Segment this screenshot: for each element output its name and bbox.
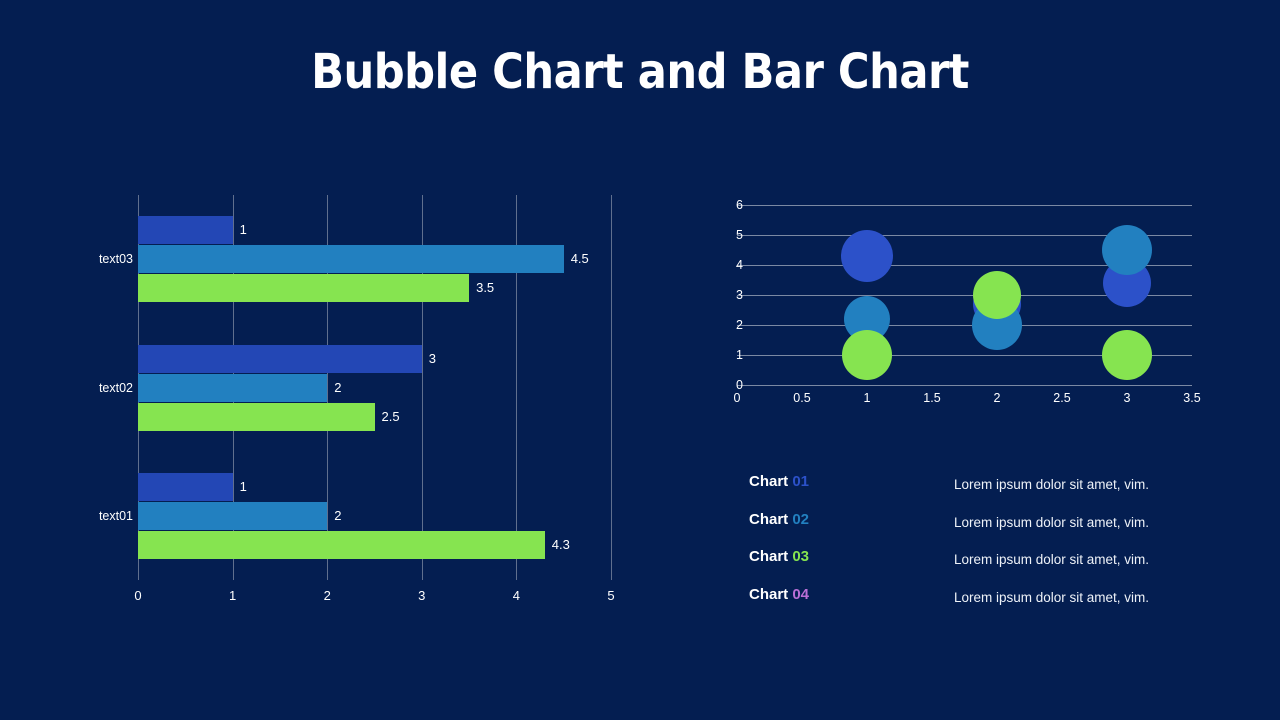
- bubble-y-tick-label: 3: [713, 288, 743, 302]
- bubble-point: [1102, 330, 1152, 380]
- bar-x-tick-label: 0: [134, 588, 141, 603]
- legend-label-text: Chart: [749, 586, 792, 603]
- bar-segment: [138, 345, 422, 373]
- bar-segment: [138, 245, 564, 273]
- legend-label-number: 02: [792, 511, 809, 528]
- legend-row: Chart 01Lorem ipsum dolor sit amet, vim.: [749, 470, 1189, 508]
- bar-chart: 012345text01124.3text02322.5text0314.53.…: [85, 195, 630, 615]
- bubble-x-tick-label: 3: [1124, 391, 1131, 405]
- bubble-y-tick-label: 6: [713, 198, 743, 212]
- bar-value-label: 3: [422, 345, 436, 373]
- bar-x-tick-label: 1: [229, 588, 236, 603]
- bubble-gridline: [737, 385, 1192, 386]
- bubble-point: [973, 271, 1021, 319]
- bubble-x-tick-label: 0.5: [793, 391, 810, 405]
- bar-segment: [138, 374, 327, 402]
- bubble-x-tick-label: 1: [864, 391, 871, 405]
- bubble-y-tick-label: 5: [713, 228, 743, 242]
- legend-label-number: 04: [792, 586, 809, 603]
- legend-description: Lorem ipsum dolor sit amet, vim.: [954, 552, 1149, 567]
- bar-segment: [138, 502, 327, 530]
- bar-segment: [138, 216, 233, 244]
- bar-value-label: 2.5: [375, 403, 400, 431]
- bar-x-tick-label: 3: [418, 588, 425, 603]
- bar-segment: [138, 531, 545, 559]
- legend-label-number: 01: [792, 473, 809, 490]
- bubble-x-tick-label: 1.5: [923, 391, 940, 405]
- bar-value-label: 1: [233, 473, 247, 501]
- bubble-x-tick-label: 0: [734, 391, 741, 405]
- bar-category-label: text02: [85, 381, 133, 395]
- slide-canvas: Bubble Chart and Bar Chart 012345text011…: [0, 0, 1280, 720]
- bar-value-label: 3.5: [469, 274, 494, 302]
- bar-segment: [138, 473, 233, 501]
- bar-category-label: text03: [85, 252, 133, 266]
- bubble-gridline: [737, 325, 1192, 326]
- legend-label-number: 03: [792, 548, 809, 565]
- bubble-point: [841, 230, 893, 282]
- bar-x-tick-label: 5: [607, 588, 614, 603]
- bar-segment: [138, 274, 469, 302]
- legend-row: Chart 03Lorem ipsum dolor sit amet, vim.: [749, 545, 1189, 583]
- page-title: Bubble Chart and Bar Chart: [0, 44, 1280, 100]
- chart-legend: Chart 01Lorem ipsum dolor sit amet, vim.…: [749, 470, 1189, 620]
- bar-value-label: 4.5: [564, 245, 589, 273]
- bubble-x-tick-label: 3.5: [1183, 391, 1200, 405]
- legend-label-text: Chart: [749, 511, 792, 528]
- legend-label: Chart 01: [749, 473, 809, 490]
- bubble-chart-plot-area: [737, 205, 1192, 385]
- bubble-gridline: [737, 205, 1192, 206]
- legend-label: Chart 04: [749, 586, 809, 603]
- bar-value-label: 2: [327, 502, 341, 530]
- legend-description: Lorem ipsum dolor sit amet, vim.: [954, 590, 1149, 605]
- legend-label-text: Chart: [749, 548, 792, 565]
- bubble-x-tick-label: 2: [994, 391, 1001, 405]
- legend-row: Chart 02Lorem ipsum dolor sit amet, vim.: [749, 508, 1189, 546]
- legend-label-text: Chart: [749, 473, 792, 490]
- bar-category-label: text01: [85, 509, 133, 523]
- bubble-y-tick-label: 2: [713, 318, 743, 332]
- legend-label: Chart 02: [749, 511, 809, 528]
- bubble-point: [1102, 225, 1152, 275]
- legend-label: Chart 03: [749, 548, 809, 565]
- bar-chart-plot-area: [138, 195, 611, 580]
- bubble-y-tick-label: 0: [713, 378, 743, 392]
- bar-x-tick-label: 4: [513, 588, 520, 603]
- bar-gridline: [611, 195, 612, 580]
- legend-row: Chart 04Lorem ipsum dolor sit amet, vim.: [749, 583, 1189, 621]
- legend-description: Lorem ipsum dolor sit amet, vim.: [954, 515, 1149, 530]
- bar-value-label: 2: [327, 374, 341, 402]
- bar-value-label: 4.3: [545, 531, 570, 559]
- bubble-y-tick-label: 1: [713, 348, 743, 362]
- bubble-x-tick-label: 2.5: [1053, 391, 1070, 405]
- legend-description: Lorem ipsum dolor sit amet, vim.: [954, 477, 1149, 492]
- bubble-chart: 012345600.511.522.533.5: [705, 195, 1205, 415]
- bar-value-label: 1: [233, 216, 247, 244]
- bubble-point: [842, 330, 892, 380]
- bar-x-tick-label: 2: [324, 588, 331, 603]
- bubble-y-tick-label: 4: [713, 258, 743, 272]
- bar-segment: [138, 403, 375, 431]
